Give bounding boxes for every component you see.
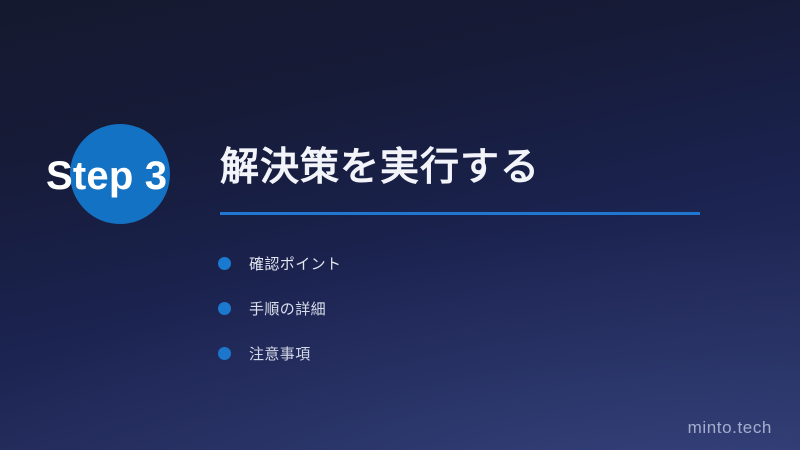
bullet-dot-icon <box>218 302 231 315</box>
bullet-dot-icon <box>218 257 231 270</box>
page-title: 解決策を実行する <box>220 146 540 191</box>
title-divider <box>220 212 700 215</box>
list-item: 手順の詳細 <box>218 286 341 331</box>
list-item-label: 手順の詳細 <box>249 298 326 319</box>
slide-content-layer: Step 3 解決策を実行する 確認ポイント 手順の詳細 注意事項 minto.… <box>0 0 800 450</box>
bullet-dot-icon <box>218 347 231 360</box>
list-item-label: 注意事項 <box>249 343 311 364</box>
list-item: 注意事項 <box>218 331 341 376</box>
step-badge-label: Step 3 <box>46 152 216 200</box>
footer-brand-label: minto.tech <box>688 418 772 438</box>
presentation-slide: Step 3 解決策を実行する 確認ポイント 手順の詳細 注意事項 minto.… <box>0 0 800 450</box>
list-item-label: 確認ポイント <box>249 253 341 274</box>
bullet-list: 確認ポイント 手順の詳細 注意事項 <box>218 241 341 376</box>
list-item: 確認ポイント <box>218 241 341 286</box>
